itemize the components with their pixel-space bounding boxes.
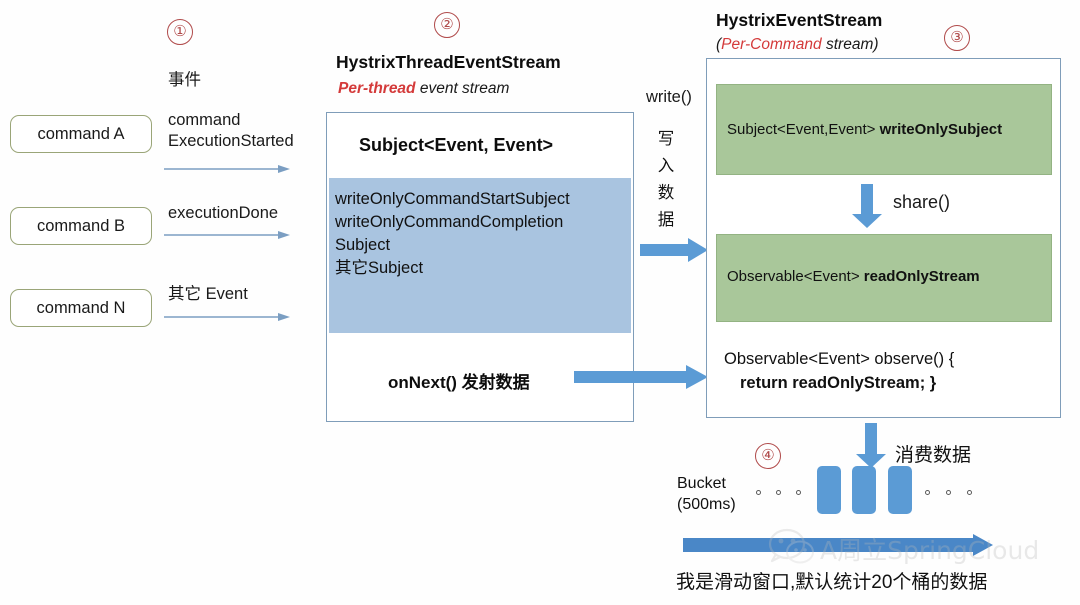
thread-stream-subheading: Per-thread event stream [338,80,509,98]
event-arrow-2 [164,229,290,241]
command-b-label: command B [37,217,125,236]
command-n-box: command N [10,289,152,327]
event-stream-subheading: (Per-Command stream) [716,36,879,54]
step-number-3: ③ [944,25,970,51]
bucket-dot-left-3 [796,490,801,495]
onnext-label: onNext() 发射数据 [388,368,530,393]
write-only-subject-box: Subject<Event,Event> writeOnlySubject [716,84,1052,175]
bucket-1 [817,466,841,514]
subject-title: Subject<Event, Event> [359,135,553,156]
subject-list-item-1: writeOnlyCommandStartSubject [335,188,631,211]
subject-list-item-3: Subject [335,234,631,257]
write-data-vertical-text: 写入数据 [658,130,675,229]
read-only-stream-prefix: Observable<Event> [727,268,864,285]
command-a-box: command A [10,115,152,153]
subject-list-item-2: writeOnlyCommandCompletion [335,211,631,234]
write-label: write() [646,88,692,107]
write-only-subject-list-box: writeOnlyCommandStartSubject writeOnlyCo… [329,178,631,333]
write-only-subject-prefix: Subject<Event,Event> [727,121,880,138]
event-label-command-n: 其它 Event [168,284,248,305]
step-number-1: ① [167,19,193,45]
subject-list-item-4: 其它Subject [335,257,631,280]
bucket-dot-right-3 [967,490,972,495]
write-only-subject-text: Subject<Event,Event> writeOnlySubject [717,85,1051,138]
diagram-canvas: ① 事件 command A command ExecutionStarted … [0,0,1080,605]
thread-stream-sub-rest: event stream [416,80,510,97]
observe-code-line-2: return readOnlyStream; } [740,374,936,392]
event-stream-heading: HystrixEventStream [716,10,882,31]
sliding-window-arrow [683,534,993,556]
read-only-stream-box: Observable<Event> readOnlyStream [716,234,1052,322]
bucket-dot-right-1 [925,490,930,495]
write-data-vertical-label: 写入数据 [655,126,677,234]
observe-code-line-1: Observable<Event> observe() { [724,347,954,371]
share-down-arrow [852,184,882,228]
event-stream-sub-rest: stream [822,36,874,53]
event-label-command-a: command ExecutionStarted [168,110,294,152]
write-block-arrow [640,238,708,262]
share-label: share() [893,192,950,213]
thread-stream-heading: HystrixThreadEventStream [336,52,561,73]
bucket-dot-left-1 [756,490,761,495]
observe-method-code: Observable<Event> observe() { return rea… [724,347,954,395]
bucket-label: Bucket (500ms) [677,473,736,515]
command-n-label: command N [37,299,126,318]
event-stream-sub-accent: Per-Command [721,36,822,53]
step-number-2: ② [434,12,460,38]
write-only-subject-name: writeOnlySubject [880,121,1003,138]
read-only-stream-text: Observable<Event> readOnlyStream [717,235,1051,285]
bucket-dot-left-2 [776,490,781,495]
bucket-2 [852,466,876,514]
sliding-window-caption: 我是滑动窗口,默认统计20个桶的数据 [676,567,987,594]
consume-down-arrow [856,423,886,468]
event-stream-sub-close: ) [873,36,878,53]
thread-stream-sub-accent: Per-thread [338,80,416,97]
events-column-header: 事件 [168,66,201,90]
command-b-box: command B [10,207,152,245]
consume-data-label: 消费数据 [895,440,971,467]
step-number-4: ④ [755,443,781,469]
onnext-block-arrow [574,365,708,389]
bucket-dot-right-2 [946,490,951,495]
event-arrow-3 [164,311,290,323]
event-label-command-b: executionDone [168,203,278,224]
event-arrow-1 [164,163,290,175]
command-a-label: command A [37,125,124,144]
bucket-3 [888,466,912,514]
read-only-stream-name: readOnlyStream [864,268,980,285]
